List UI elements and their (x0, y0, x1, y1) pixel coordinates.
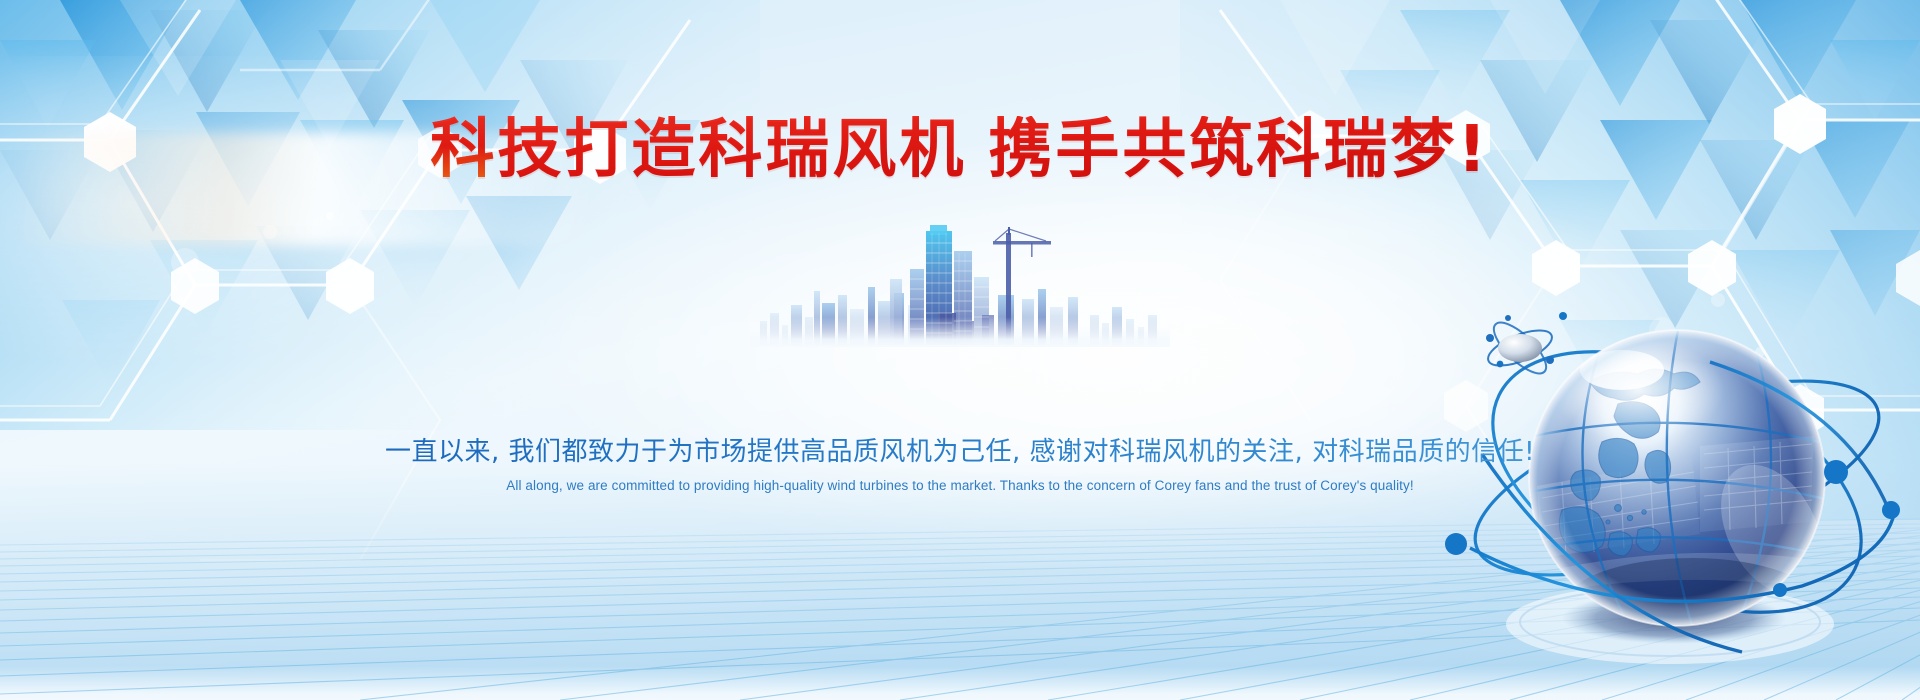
globe-base-shadow (1506, 584, 1834, 664)
headline-part-two: 携手共筑科瑞梦! (988, 113, 1489, 187)
headline-part-one: 技打造科瑞风机 (497, 113, 966, 187)
orbit-rings-front (1470, 362, 1894, 652)
hexagon-triangle-background (0, 0, 1920, 700)
satellite-atom-icon (1484, 315, 1557, 381)
promo-banner: 科技打造科瑞风机携手共筑科瑞梦! (0, 0, 1920, 700)
subtitle-chinese: 一直以来, 我们都致力于为市场提供高品质风机为己任, 感谢对科瑞风机的关注, 对… (0, 436, 1920, 469)
headline-container: 科技打造科瑞风机携手共筑科瑞梦! (0, 116, 1920, 185)
city-window-texture-vertical (932, 233, 965, 345)
left-glow (0, 56, 538, 378)
city-window-texture (910, 243, 989, 333)
page-title: 科技打造科瑞风机携手共筑科瑞梦! (430, 116, 1489, 185)
bottom-gradient-fade (0, 462, 1920, 700)
city-buildings-mid (814, 287, 1078, 345)
headline-lead-char: 科 (430, 113, 497, 187)
city-skyline-illustration (750, 217, 1170, 347)
bokeh-dots (171, 212, 1765, 357)
subtitle-english: All along, we are committed to providing… (0, 478, 1920, 493)
center-glow (538, 140, 1690, 574)
triangle-cluster-right (1280, 0, 1920, 436)
subtitle-container: 一直以来, 我们都致力于为市场提供高品质风机为己任, 感谢对科瑞风机的关注, 对… (0, 436, 1920, 493)
triangle-cluster-left (0, 0, 700, 388)
city-buildings-front (890, 225, 1051, 345)
city-buildings-back (760, 305, 1157, 345)
